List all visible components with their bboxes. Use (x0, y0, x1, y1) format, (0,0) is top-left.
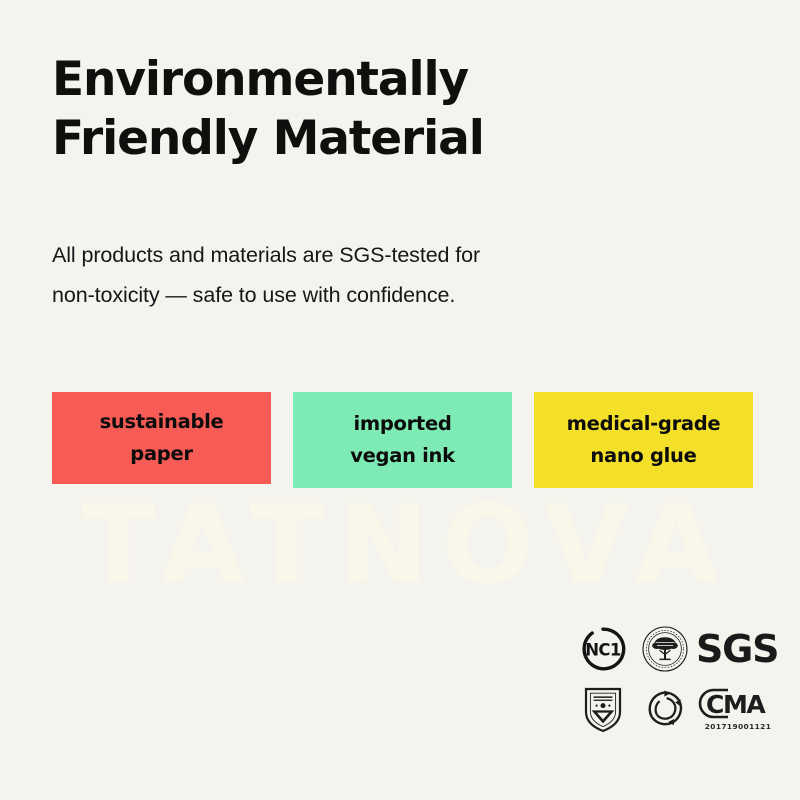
cma-certificate-number: 201719001121 (705, 722, 772, 731)
shield-chevron-icon (582, 685, 624, 733)
svg-text:NC1: NC1 (585, 641, 621, 660)
certification-nc1: NC1 (572, 620, 634, 678)
material-badge-label-line-2: vegan ink (350, 440, 455, 472)
page-description-line-2: non-toxicity — safe to use with confiden… (52, 276, 652, 316)
material-badge-label-line-1: imported (353, 408, 451, 440)
sgs-wordmark-icon: SGS (696, 630, 780, 668)
certification-sgs: SGS (696, 620, 792, 678)
material-badge-label-line-2: paper (130, 438, 192, 470)
certification-shield (572, 680, 634, 738)
material-badge-row: sustainable paper imported vegan ink med… (52, 392, 754, 490)
certification-cma: CMA 201719001121 (696, 680, 792, 738)
poster-canvas: TATNOVA Environmentally Friendly Materia… (0, 0, 800, 800)
cma-mark-icon: CMA 201719001121 (696, 687, 780, 731)
material-badge-label-line-1: medical-grade (567, 408, 721, 440)
page-title-line-1: Environmentally (52, 50, 732, 109)
certification-logo-row-2: CMA 201719001121 (572, 680, 800, 738)
certification-logo-grid: NC1 (572, 620, 800, 738)
page-title: Environmentally Friendly Material (52, 50, 732, 168)
material-badge-label-line-2: nano glue (590, 440, 696, 472)
material-badge-label-line-1: sustainable (100, 406, 224, 438)
certification-logo-row-1: NC1 (572, 620, 800, 678)
page-description-line-1: All products and materials are SGS-teste… (52, 236, 652, 276)
certification-recycling (634, 680, 696, 738)
nc1-ring-icon: NC1 (580, 626, 626, 672)
material-badge-imported-vegan-ink: imported vegan ink (293, 392, 512, 488)
material-badge-medical-grade-nano-glue: medical-grade nano glue (534, 392, 753, 488)
certification-tree-seal (634, 620, 696, 678)
brand-watermark: TATNOVA (0, 488, 800, 603)
page-title-line-2: Friendly Material (52, 109, 732, 168)
recycling-arrows-icon (642, 686, 688, 732)
svg-text:CMA: CMA (706, 690, 766, 719)
material-badge-sustainable-paper: sustainable paper (52, 392, 271, 484)
page-description: All products and materials are SGS-teste… (52, 236, 652, 316)
tree-seal-icon (641, 625, 689, 673)
